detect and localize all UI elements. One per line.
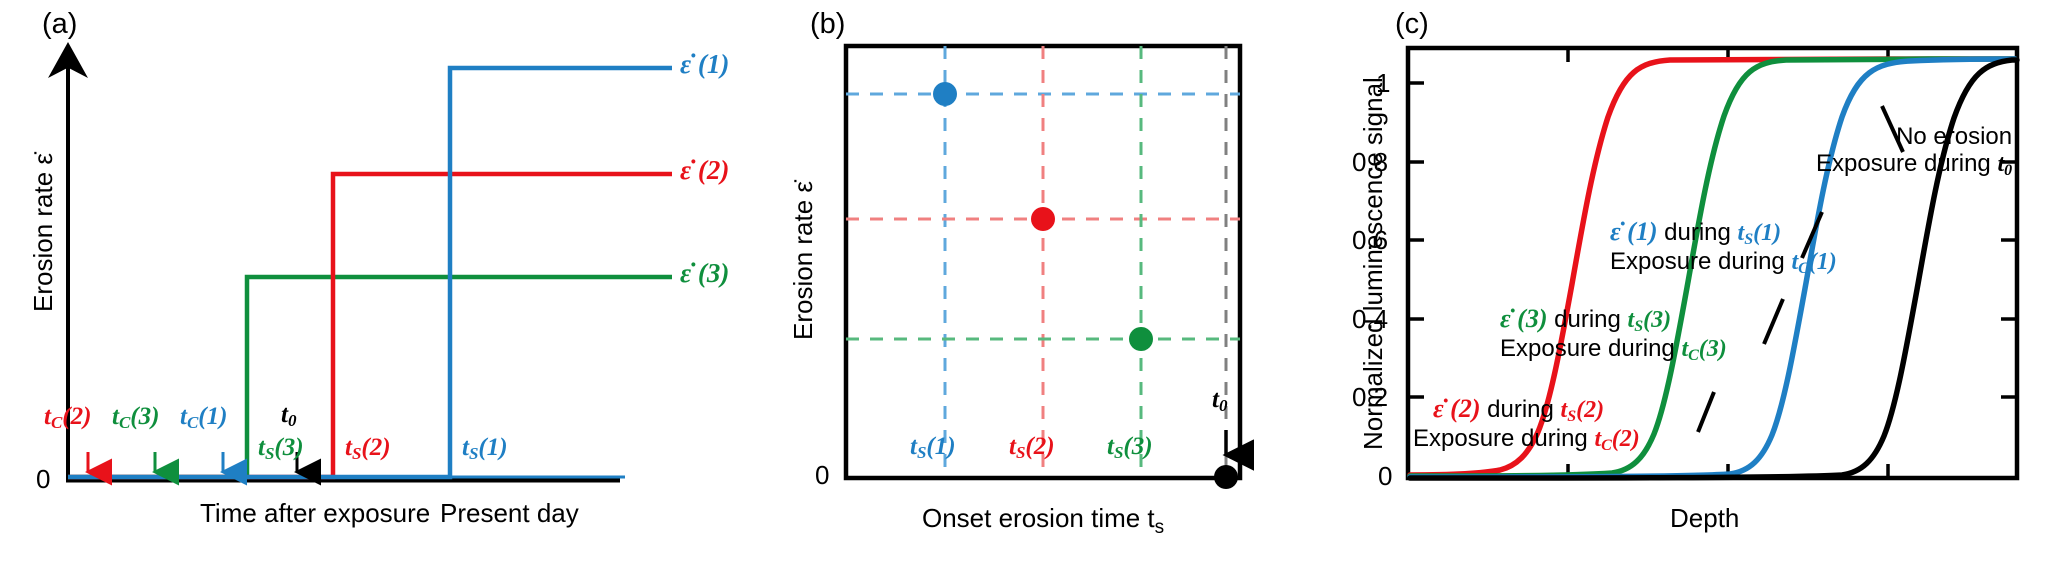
panel-a-label-t0: t0 — [281, 401, 296, 431]
panel-b-label-t0: t0 — [1212, 386, 1227, 416]
panel-b-plot — [760, 0, 1340, 588]
panel-c-annot-no-erosion-line2: Exposure during t0 — [1816, 151, 2012, 180]
panel-a-label-ts2: tS(2) — [345, 434, 391, 464]
panel-c-annot-curve1-eps: ε̇ (1) — [1610, 217, 1657, 246]
panel-c-leader-curve3 — [1764, 299, 1783, 344]
panel-a-present-day-label: Present day — [440, 498, 579, 529]
panel-c-annot-curve1-line1: ε̇ (1) during tS(1) — [1610, 217, 1837, 249]
panel-c-annot-curve2-eps: ε̇ (2) — [1433, 394, 1480, 423]
panel-a-label-ts1: tS(1) — [462, 434, 508, 464]
panel-c-annot-curve3-line2: Exposure during tC(3) — [1500, 336, 1727, 365]
panel-c-annot-curve1: ε̇ (1) during tS(1) Exposure during tC(1… — [1610, 217, 1837, 278]
panel-c-annot-curve2-mid: during — [1480, 396, 1560, 423]
panel-c-annot-curve1-line2: Exposure during tC(1) — [1610, 249, 1837, 278]
panel-c-annot-curve2: ε̇ (2) during tS(2) Exposure during tC(2… — [1413, 394, 1640, 455]
panel-c-ylabel-06: 0.6 — [1352, 225, 1388, 256]
panel-c-annot-curve1-line2-pre: Exposure during — [1610, 248, 1791, 275]
panel-c-annot-curve3-eps: ε̇ (3) — [1500, 304, 1547, 333]
panel-b-point-red — [1031, 207, 1055, 231]
panel-c: (c) Normalized luminescence signal — [1340, 0, 2067, 588]
panel-c-annot-no-erosion-line1: No erosion — [1816, 124, 2012, 151]
panel-a-label-tc3: tC(3) — [112, 403, 159, 433]
panel-b-label-ts2: tS(2) — [1009, 433, 1055, 463]
panel-c-annot-no-erosion: No erosion Exposure during t0 — [1816, 124, 2012, 180]
panel-c-annot-curve1-tc: tC(1) — [1791, 249, 1836, 275]
panel-c-annot-curve3-tc: tC(3) — [1681, 336, 1726, 362]
figure-root: (a) Erosion rate ε̇ — [0, 0, 2067, 588]
panel-a-legend-eps3: ε̇ (3) — [680, 258, 729, 289]
panel-a-label-tc1: tC(1) — [180, 403, 227, 433]
panel-c-annot-curve2-line2: Exposure during tC(2) — [1413, 426, 1640, 455]
panel-b-point-blue — [933, 82, 957, 106]
panel-c-annot-curve2-line2-pre: Exposure during — [1413, 425, 1594, 452]
panel-b-point-green — [1129, 327, 1153, 351]
panel-c-ylabel-1: 1 — [1376, 68, 1390, 99]
panel-a-y-zero-tick: 0 — [36, 464, 50, 495]
panel-c-ylabel-02: 0.2 — [1352, 382, 1388, 413]
panel-c-ylabel-08: 0.8 — [1352, 147, 1388, 178]
panel-b-label-ts3: tS(3) — [1107, 433, 1153, 463]
panel-b-x-axis-title-sub: s — [1155, 517, 1165, 538]
panel-c-annot-curve1-ts: tS(1) — [1738, 220, 1782, 246]
panel-c-annot-curve3-mid: during — [1547, 306, 1627, 333]
panel-c-x-axis-title: Depth — [1670, 503, 1739, 534]
panel-c-annot-curve2-tc: tC(2) — [1594, 426, 1639, 452]
panel-c-annot-curve3: ε̇ (3) during tS(3) Exposure during tC(3… — [1500, 304, 1727, 365]
panel-c-annot-curve2-line1: ε̇ (2) during tS(2) — [1413, 394, 1640, 426]
panel-c-annot-curve3-ts: tS(3) — [1628, 307, 1672, 333]
panel-c-annot-curve3-line1: ε̇ (3) during tS(3) — [1500, 304, 1727, 336]
panel-c-annot-curve3-line2-pre: Exposure during — [1500, 335, 1681, 362]
panel-a: (a) Erosion rate ε̇ — [0, 0, 760, 588]
panel-b: (b) Erosion rate ε̇ 0 tS(1) — [760, 0, 1340, 588]
panel-c-leader-curve2 — [1698, 392, 1714, 432]
panel-b-x-axis-title: Onset erosion time ts — [922, 503, 1164, 539]
panel-b-x-axis-title-main: Onset erosion time t — [922, 503, 1155, 533]
panel-c-annot-no-erosion-line2-pre: Exposure during — [1816, 150, 1997, 177]
panel-a-legend-eps2: ε̇ (2) — [680, 155, 729, 186]
panel-a-x-axis-title: Time after exposure — [200, 498, 430, 529]
panel-a-label-tc2: tC(2) — [44, 403, 91, 433]
panel-a-legend-eps1: ε̇ (1) — [680, 49, 729, 80]
panel-c-annot-curve2-ts: tS(2) — [1561, 397, 1605, 423]
panel-c-ylabel-0: 0 — [1378, 461, 1392, 492]
panel-a-label-ts3: tS(3) — [258, 434, 304, 464]
panel-c-ylabel-04: 0.4 — [1352, 304, 1388, 335]
panel-c-plot — [1340, 0, 2067, 588]
panel-b-label-ts1: tS(1) — [910, 433, 956, 463]
panel-c-annot-no-erosion-t0: t0 — [1997, 151, 2012, 177]
panel-b-y-zero-tick: 0 — [815, 460, 829, 491]
panel-c-annot-curve1-mid: during — [1657, 219, 1737, 246]
panel-b-point-black — [1214, 465, 1238, 489]
